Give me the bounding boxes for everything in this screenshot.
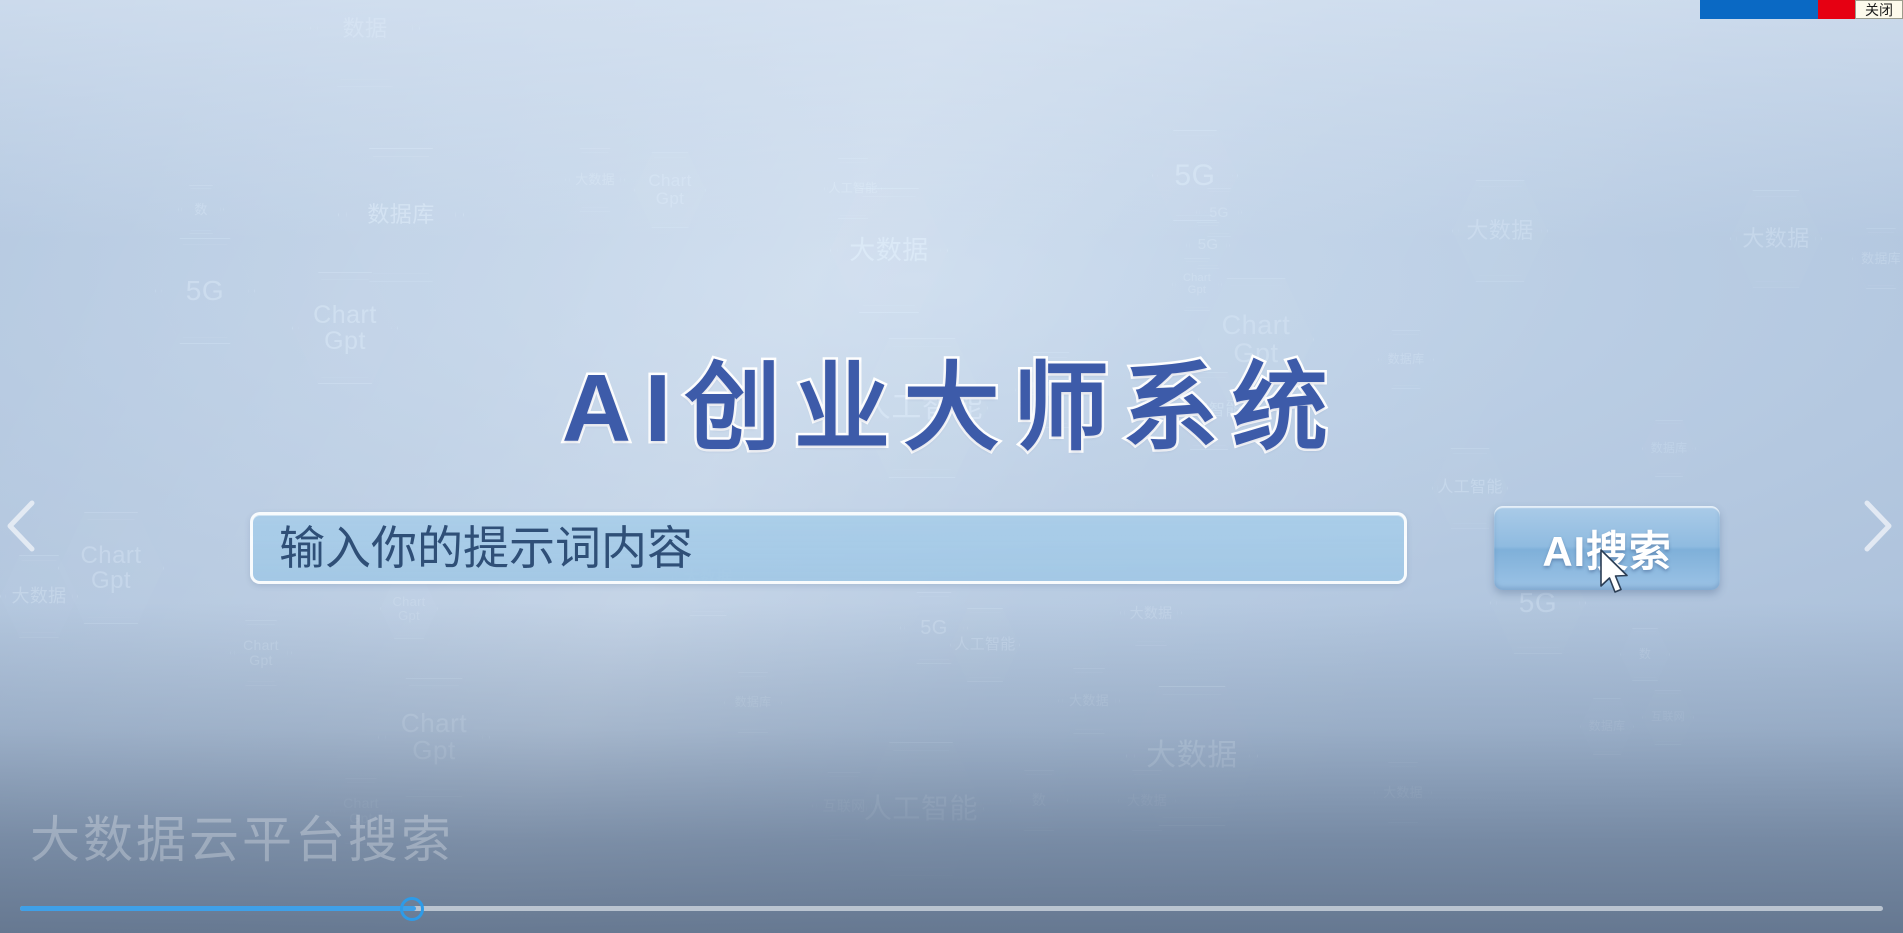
- app-root: 数据数据库5G数Chart Gpt大数据Chart Gpt大数据人工智能人工智能…: [0, 0, 1903, 933]
- search-input[interactable]: [250, 512, 1407, 584]
- taskbar-fragment: 关闭: [1700, 0, 1903, 19]
- chevron-right-icon[interactable]: [1853, 495, 1897, 557]
- slider-handle[interactable]: [400, 897, 424, 921]
- title-container: AI创业大师系统: [0, 330, 1903, 469]
- chevron-left-icon[interactable]: [2, 495, 46, 557]
- taskbar-red-block: [1818, 0, 1855, 19]
- page-title: AI创业大师系统: [562, 330, 1342, 469]
- background-bottom-fade: [0, 603, 1903, 933]
- search-row: AI搜索: [0, 512, 1903, 590]
- slider-progress-fill: [20, 906, 416, 911]
- ai-search-button[interactable]: AI搜索: [1494, 506, 1720, 590]
- background-top-sheen: [0, 0, 1903, 240]
- taskbar-blue-block: [1700, 0, 1818, 19]
- close-button[interactable]: 关闭: [1855, 0, 1903, 19]
- progress-slider[interactable]: [0, 895, 1903, 921]
- bottom-watermark-text: 大数据云平台搜索: [30, 800, 454, 872]
